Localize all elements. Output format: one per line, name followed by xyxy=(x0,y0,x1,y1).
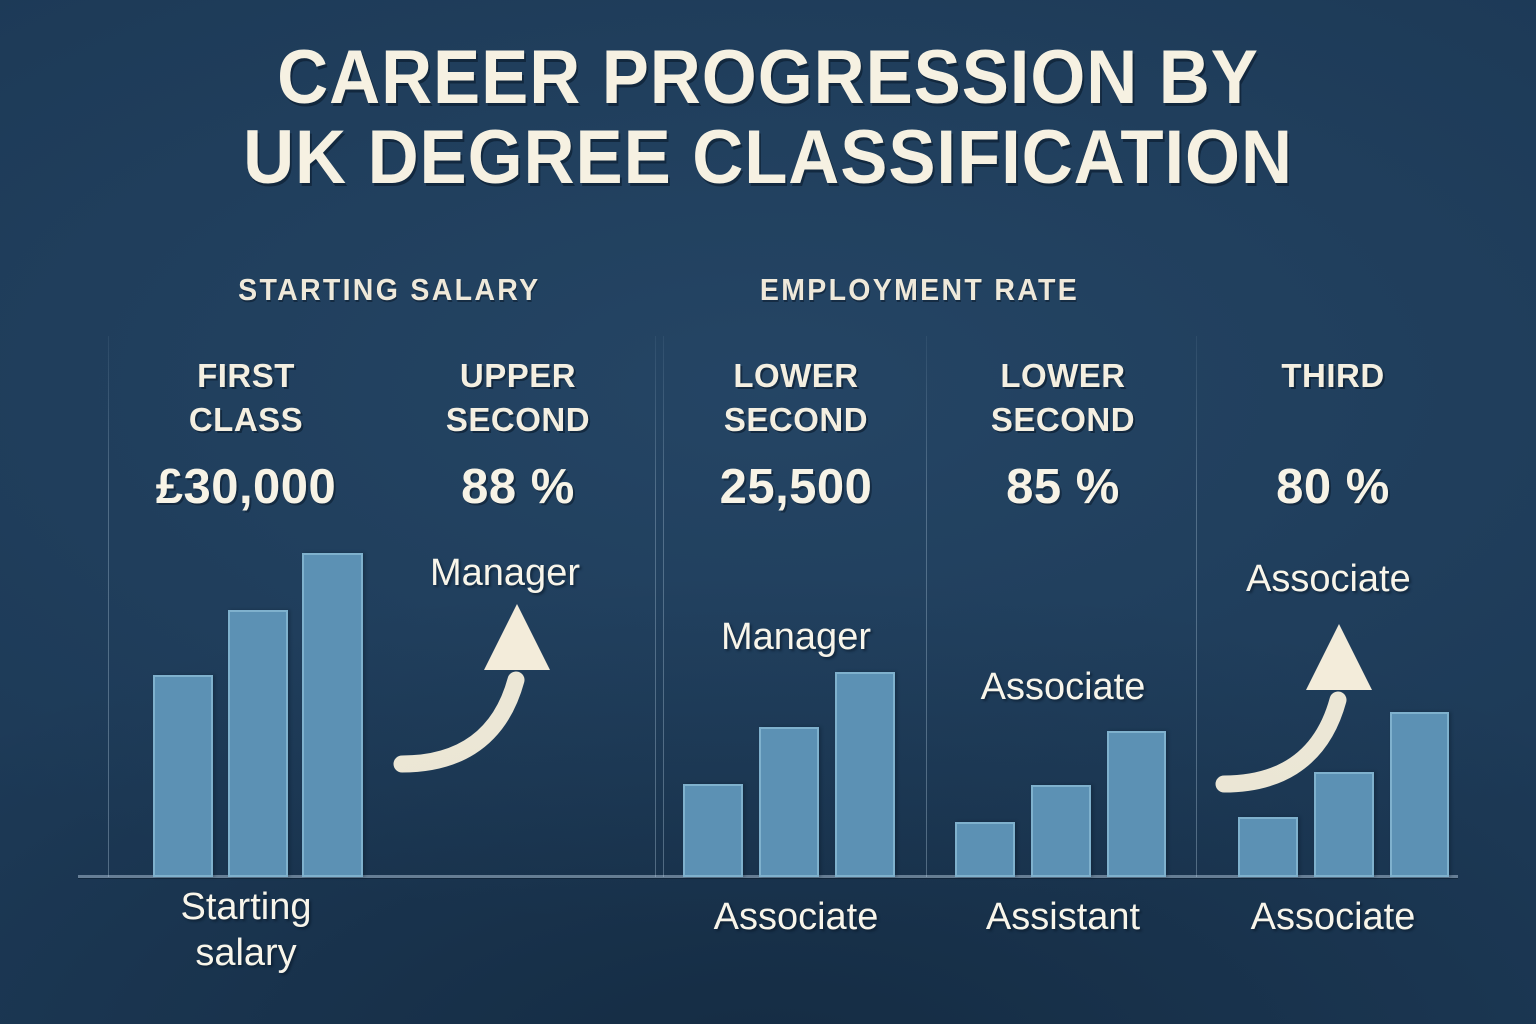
panel-role-label-lower-second-salary: Manager xyxy=(665,616,927,658)
panel-footer-line-1: Starting xyxy=(110,884,382,930)
bar-first-class-2 xyxy=(228,610,288,877)
panel-title-line-2: SECOND xyxy=(930,398,1196,442)
panel-title-lower-second-employment: LOWER SECOND xyxy=(930,354,1196,442)
page-title: CAREER PROGRESSION BY UK DEGREE CLASSIFI… xyxy=(54,38,1482,198)
panel-footer-line-1: Associate xyxy=(1200,894,1466,940)
panel-title-line-1: FIRST xyxy=(110,354,382,398)
panel-title-line-1: LOWER xyxy=(665,354,927,398)
section-header-employment-rate: EMPLOYMENT RATE xyxy=(760,272,1079,308)
bar-lower-second-employment-1 xyxy=(955,822,1015,877)
bar-lower-second-employment-3 xyxy=(1107,731,1166,877)
panel-title-first-class: FIRST CLASS xyxy=(110,354,382,442)
panel-footer-line-1: Assistant xyxy=(930,894,1196,940)
panel-footer-lower-second-employment: Assistant xyxy=(930,894,1196,940)
panel-title-line-2: CLASS xyxy=(110,398,382,442)
panel-upper-second: UPPER SECOND 88 % Manager xyxy=(382,336,654,896)
panel-role-label-third: Associate xyxy=(1246,558,1476,600)
bar-lower-second-salary-1 xyxy=(683,784,743,877)
bar-first-class-3 xyxy=(302,553,363,877)
panel-role-label-lower-second-employment: Associate xyxy=(930,666,1196,708)
panel-footer-third: Associate xyxy=(1200,894,1466,940)
panel-title-line-2: SECOND xyxy=(382,398,654,442)
panel-divider-2 xyxy=(663,336,664,877)
panel-title-third: THIRD xyxy=(1200,354,1466,398)
axis-line-left xyxy=(108,336,109,877)
panel-value-lower-second-employment: 85 % xyxy=(930,459,1196,515)
panel-value-first-class: £30,000 xyxy=(110,459,382,515)
bar-third-3 xyxy=(1390,712,1449,877)
bar-lower-second-salary-3 xyxy=(835,672,895,877)
title-line-2: UK DEGREE CLASSIFICATION xyxy=(54,118,1482,198)
panel-divider-4 xyxy=(1196,336,1197,877)
panel-title-lower-second-salary: LOWER SECOND xyxy=(665,354,927,442)
panel-value-third: 80 % xyxy=(1200,459,1466,515)
title-line-1: CAREER PROGRESSION BY xyxy=(277,35,1259,120)
panel-role-label-upper-second: Manager xyxy=(430,552,660,594)
panel-divider-1 xyxy=(655,336,656,877)
panel-title-line-2: SECOND xyxy=(665,398,927,442)
panel-footer-line-2: salary xyxy=(110,930,382,976)
panel-footer-line-1: Associate xyxy=(665,894,927,940)
panel-title-upper-second: UPPER SECOND xyxy=(382,354,654,442)
panel-title-line-1: LOWER xyxy=(930,354,1196,398)
panel-value-upper-second: 88 % xyxy=(382,459,654,515)
bar-lower-second-salary-2 xyxy=(759,727,819,877)
panel-title-line-1: UPPER xyxy=(382,354,654,398)
panel-footer-first-class: Starting salary xyxy=(110,884,382,976)
bar-first-class-1 xyxy=(153,675,213,877)
bar-third-1 xyxy=(1238,817,1298,877)
bar-lower-second-employment-2 xyxy=(1031,785,1091,877)
panel-title-line-1: THIRD xyxy=(1200,354,1466,398)
section-header-starting-salary: STARTING SALARY xyxy=(238,272,540,308)
infographic-canvas: CAREER PROGRESSION BY UK DEGREE CLASSIFI… xyxy=(0,0,1536,1024)
panel-value-lower-second-salary: 25,500 xyxy=(665,459,927,515)
panel-footer-lower-second-salary: Associate xyxy=(665,894,927,940)
bar-third-2 xyxy=(1314,772,1374,877)
